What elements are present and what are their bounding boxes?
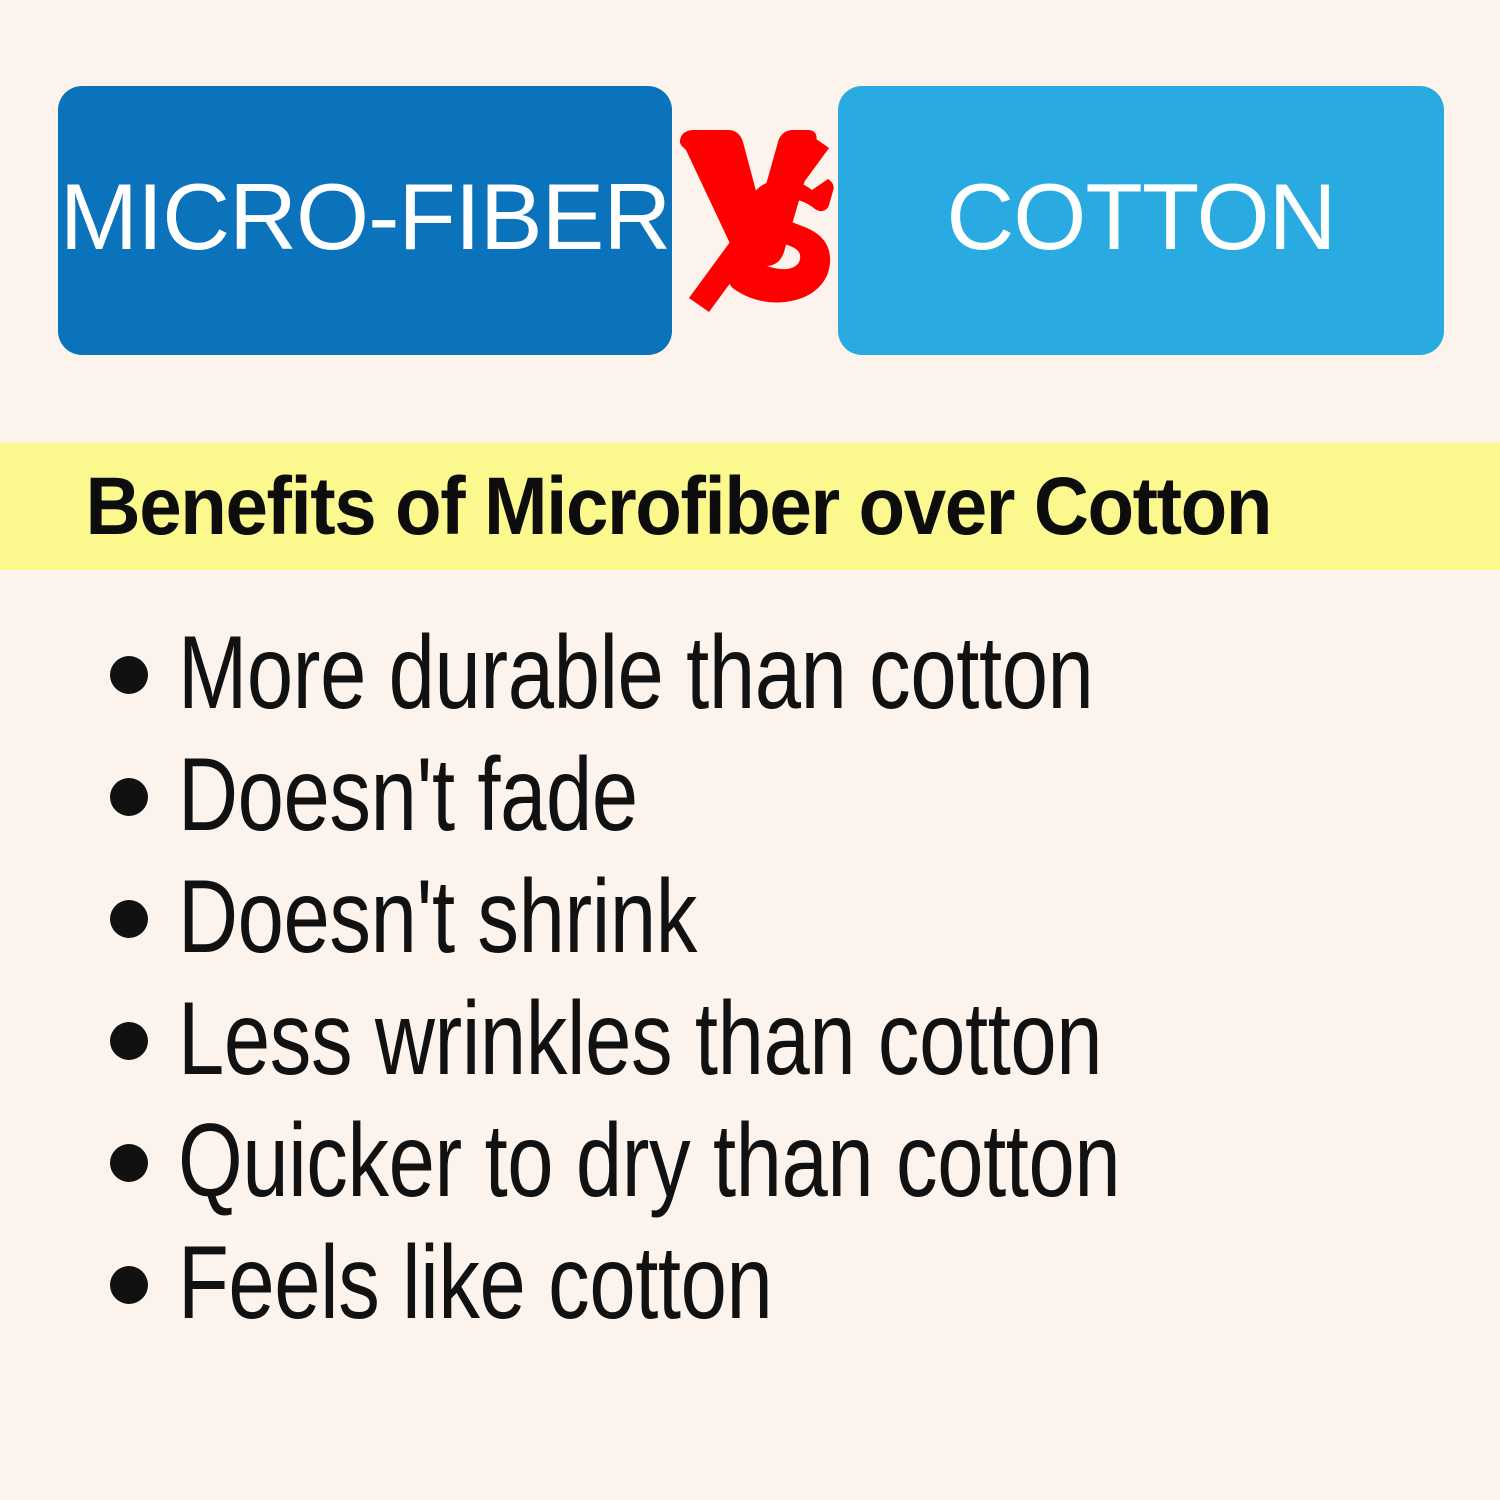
list-item: Quicker to dry than cotton [0, 1100, 1500, 1222]
bullet-dot-icon [110, 656, 148, 694]
benefits-banner: Benefits of Microfiber over Cotton [0, 443, 1500, 570]
product-card-microfiber-label: MICRO-FIBER [60, 170, 670, 264]
list-item: Less wrinkles than cotton [0, 978, 1500, 1100]
list-item-label: Less wrinkles than cotton [178, 987, 1102, 1091]
versus-icon [672, 120, 840, 320]
bullet-dot-icon [110, 778, 148, 816]
list-item: Feels like cotton [0, 1222, 1500, 1344]
bullet-dot-icon [110, 1144, 148, 1182]
bullet-dot-icon [110, 1266, 148, 1304]
list-item-label: Doesn't fade [178, 743, 638, 847]
benefits-list: More durable than cotton Doesn't fade Do… [0, 612, 1500, 1344]
product-comparison-header: MICRO-FIBER COTTON [0, 0, 1500, 443]
list-item-label: More durable than cotton [178, 621, 1093, 725]
list-item-label: Quicker to dry than cotton [178, 1109, 1120, 1213]
product-card-cotton-label: COTTON [946, 170, 1335, 264]
product-card-microfiber: MICRO-FIBER [58, 86, 672, 355]
list-item: Doesn't shrink [0, 856, 1500, 978]
product-card-cotton: COTTON [838, 86, 1444, 355]
list-item-label: Doesn't shrink [178, 865, 697, 969]
benefits-heading: Benefits of Microfiber over Cotton [0, 466, 1271, 548]
bullet-dot-icon [110, 1022, 148, 1060]
list-item: More durable than cotton [0, 612, 1500, 734]
list-item: Doesn't fade [0, 734, 1500, 856]
bullet-dot-icon [110, 900, 148, 938]
list-item-label: Feels like cotton [178, 1231, 772, 1335]
